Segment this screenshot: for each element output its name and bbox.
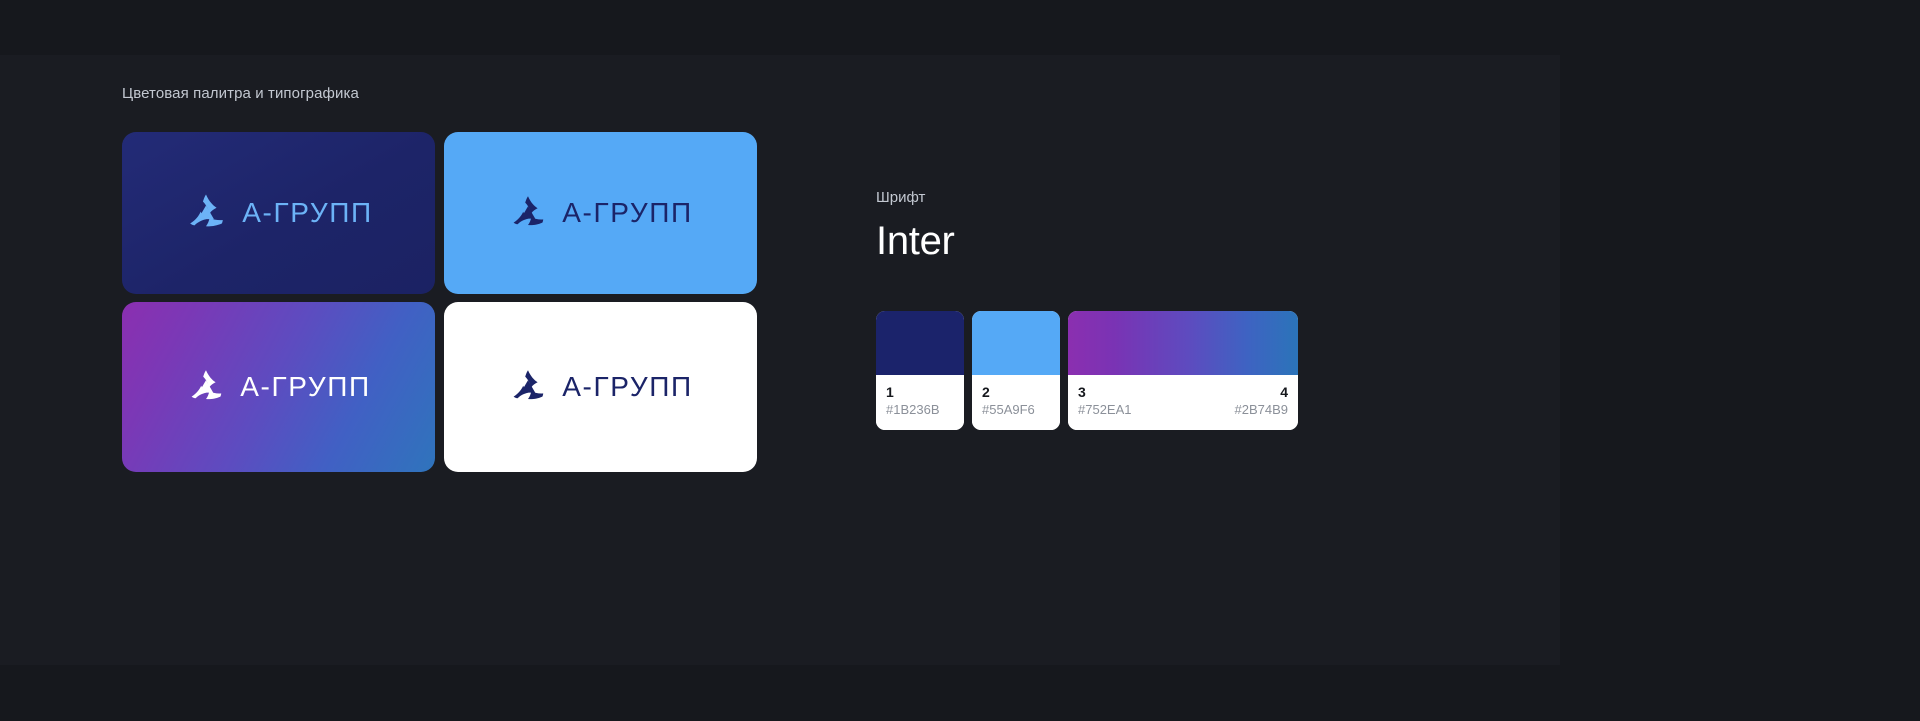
swatch-hex-value: #752EA1 bbox=[1078, 401, 1132, 419]
swatch-gradient-chip bbox=[1068, 311, 1298, 375]
brand-wordmark: А-ГРУПП bbox=[240, 373, 370, 401]
a-grupp-logo-icon bbox=[508, 367, 548, 407]
brand-lockup: А-ГРУПП bbox=[184, 191, 372, 235]
content-area: Цветовая палитра и типографика bbox=[0, 0, 1920, 721]
swatch-number: 3 bbox=[1078, 383, 1132, 401]
swatch-hex-value: #55A9F6 bbox=[982, 401, 1050, 419]
swatch-info: 3 #752EA1 4 #2B74B9 bbox=[1068, 375, 1298, 430]
color-swatch-row: 1 #1B236B 2 #55A9F6 bbox=[876, 311, 1476, 430]
brand-lockup: А-ГРУПП bbox=[508, 193, 692, 233]
swatch-number: 4 bbox=[1235, 383, 1289, 401]
font-name: Inter bbox=[876, 216, 1476, 266]
logo-card-gradient[interactable]: А-ГРУПП bbox=[122, 302, 435, 472]
swatch-info-left: 3 #752EA1 bbox=[1078, 383, 1132, 419]
logo-card-white[interactable]: А-ГРУПП bbox=[444, 302, 757, 472]
swatch-number: 1 bbox=[886, 383, 954, 401]
color-swatch-1[interactable]: 1 #1B236B bbox=[876, 311, 964, 430]
screen-root: Цветовая палитра и типографика bbox=[0, 0, 1920, 721]
swatch-info: 1 #1B236B bbox=[876, 375, 964, 430]
brand-wordmark: А-ГРУПП bbox=[562, 373, 692, 401]
brand-wordmark: А-ГРУПП bbox=[562, 199, 692, 227]
brand-section: Цветовая палитра и типографика bbox=[122, 84, 762, 472]
color-swatch-gradient-3-4[interactable]: 3 #752EA1 4 #2B74B9 bbox=[1068, 311, 1298, 430]
a-grupp-logo-icon bbox=[508, 193, 548, 233]
logo-card-light-blue[interactable]: А-ГРУПП bbox=[444, 132, 757, 294]
logo-card-navy[interactable]: А-ГРУПП bbox=[122, 132, 435, 294]
font-label: Шрифт bbox=[876, 188, 1476, 208]
brand-lockup: А-ГРУПП bbox=[508, 367, 692, 407]
swatch-hex-value: #2B74B9 bbox=[1235, 401, 1289, 419]
brand-wordmark: А-ГРУПП bbox=[242, 199, 372, 227]
swatch-hex-value: #1B236B bbox=[886, 401, 954, 419]
brand-lockup: А-ГРУПП bbox=[186, 367, 370, 407]
typography-palette-section: Шрифт Inter 1 #1B236B 2 #55A9F6 bbox=[876, 188, 1476, 430]
logo-card-grid: А-ГРУПП А-ГРУП bbox=[122, 132, 762, 472]
swatch-info-right: 4 #2B74B9 bbox=[1235, 383, 1289, 419]
section-title: Цветовая палитра и типографика bbox=[122, 84, 762, 104]
color-swatch-2[interactable]: 2 #55A9F6 bbox=[972, 311, 1060, 430]
swatch-info: 2 #55A9F6 bbox=[972, 375, 1060, 430]
swatch-color-chip bbox=[876, 311, 964, 375]
swatch-number: 2 bbox=[982, 383, 1050, 401]
swatch-color-chip bbox=[972, 311, 1060, 375]
a-grupp-logo-icon bbox=[184, 191, 228, 235]
a-grupp-logo-icon bbox=[186, 367, 226, 407]
